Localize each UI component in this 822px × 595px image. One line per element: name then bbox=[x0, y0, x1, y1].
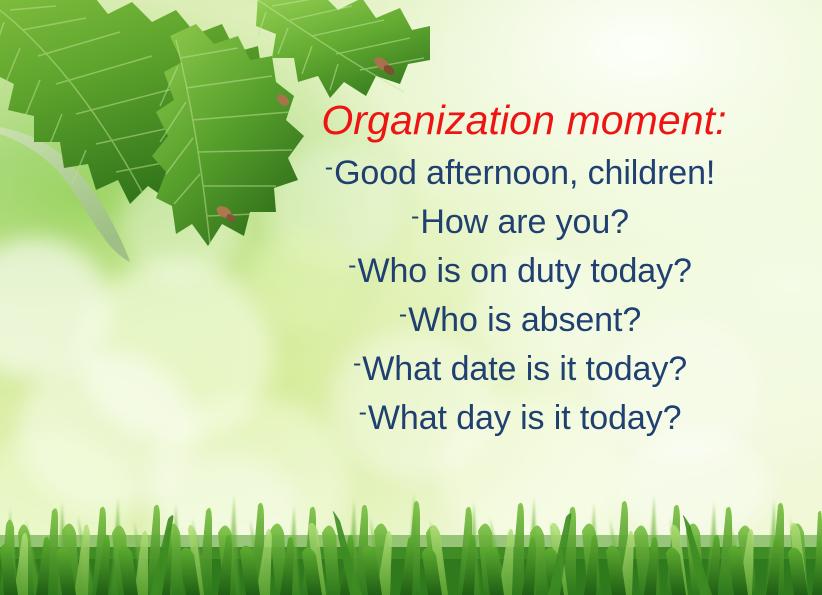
bullet-dash-icon: - bbox=[411, 202, 419, 230]
bullet-dash-icon: - bbox=[399, 300, 407, 328]
bullet-dash-icon: - bbox=[325, 153, 333, 181]
list-item: -What date is it today? bbox=[180, 351, 822, 386]
list-item: -Who is absent? bbox=[180, 302, 822, 337]
list-item-label: How are you? bbox=[420, 203, 629, 241]
bullet-dash-icon: - bbox=[353, 349, 361, 377]
list-item-label: What date is it today? bbox=[362, 350, 687, 388]
list-item-label: What day is it today? bbox=[368, 399, 682, 437]
list-item-label: Good afternoon, children! bbox=[334, 154, 715, 192]
slide-canvas: Organization moment: -Good afternoon, ch… bbox=[0, 0, 822, 595]
list-item: -Who is on duty today? bbox=[180, 253, 822, 288]
bullet-dash-icon: - bbox=[359, 398, 367, 426]
list-item-label: Who is on duty today? bbox=[358, 252, 692, 290]
list-item-label: Who is absent? bbox=[408, 301, 641, 339]
bullet-dash-icon: - bbox=[348, 251, 356, 279]
slide-text-block: Organization moment: -Good afternoon, ch… bbox=[180, 100, 822, 435]
list-item: -How are you? bbox=[180, 204, 822, 239]
page-title: Organization moment: bbox=[180, 100, 822, 141]
list-item: -Good afternoon, children! bbox=[180, 155, 822, 190]
grass-border-icon bbox=[0, 475, 822, 595]
list-item: -What day is it today? bbox=[180, 400, 822, 435]
